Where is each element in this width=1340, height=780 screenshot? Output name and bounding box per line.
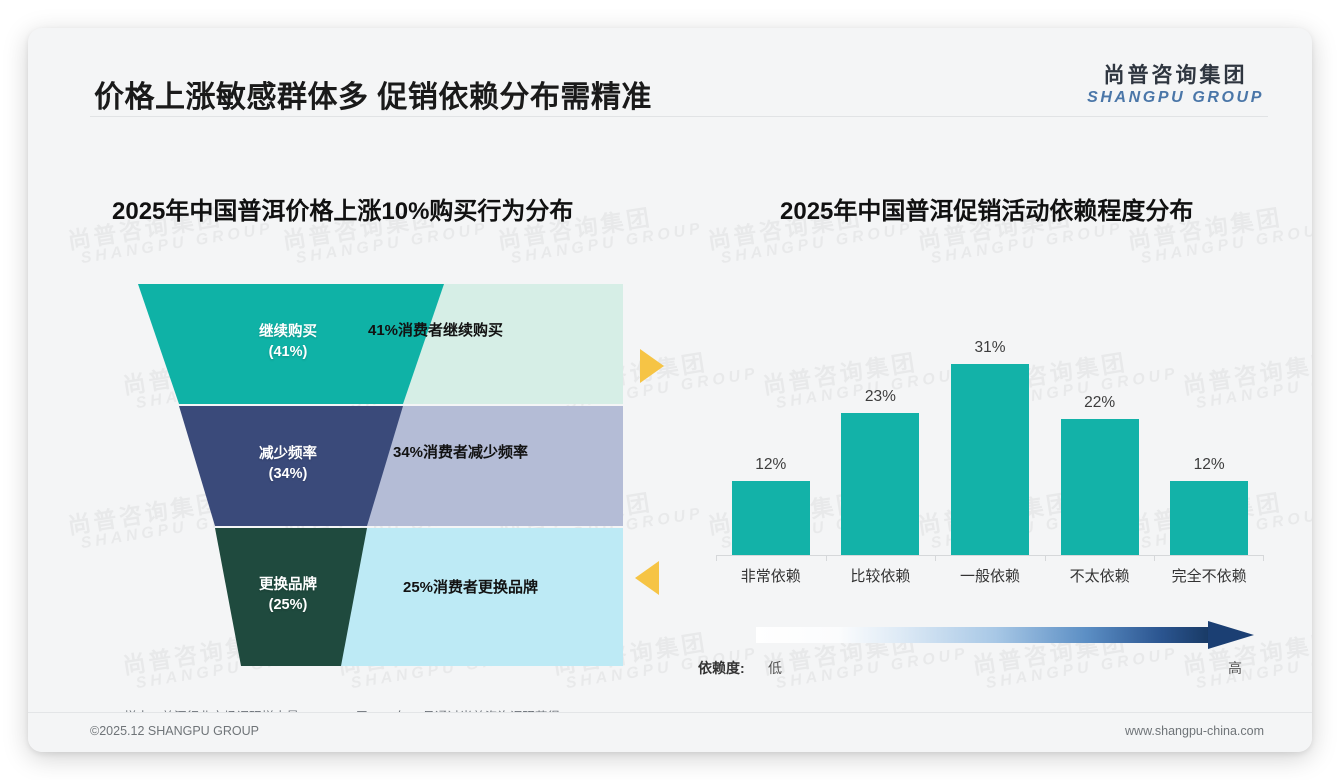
axis-tick <box>1154 555 1155 561</box>
funnel-segment-name: 减少频率 <box>259 446 317 462</box>
legend-low-label: 低 <box>768 658 782 678</box>
bar-column[interactable]: 12% <box>1166 456 1252 555</box>
header-divider <box>90 116 1268 117</box>
slide-header: 价格上涨敏感群体多 促销依赖分布需精准 尚普咨询集团 SHANGPU GROUP <box>28 28 1312 116</box>
funnel-graphic <box>123 284 643 668</box>
bar-category-label: 比较依赖 <box>830 565 930 586</box>
bar-value-label: 22% <box>1057 394 1143 412</box>
funnel-annotation-text: 25%消费者更换品牌 <box>403 576 538 597</box>
legend-high-label: 高 <box>1228 658 1242 678</box>
bar-column[interactable]: 31% <box>947 339 1033 555</box>
logo-english-text: SHANGPU GROUP <box>1087 88 1264 107</box>
funnel-segment-name: 更换品牌 <box>259 577 317 593</box>
funnel-segment-name: 继续购买 <box>259 324 317 340</box>
x-axis-line <box>716 555 1264 556</box>
copyright-text: ©2025.12 SHANGPU GROUP <box>90 724 259 738</box>
bar-rect <box>841 413 919 555</box>
bar-value-label: 31% <box>947 339 1033 357</box>
arrow-right-icon <box>640 349 664 383</box>
bar-rect <box>951 364 1029 555</box>
axis-tick <box>1045 555 1046 561</box>
funnel-chart: 继续购买(41%)41%消费者继续购买减少频率(34%)34%消费者减少频率更换… <box>123 284 643 668</box>
bar-column[interactable]: 22% <box>1057 394 1143 555</box>
funnel-segment-label: 继续购买(41%) <box>233 323 343 362</box>
bar-value-label: 23% <box>837 388 923 406</box>
bar-category-label: 不太依赖 <box>1050 565 1150 586</box>
legend-title: 依赖度: <box>698 658 745 678</box>
page-title: 价格上涨敏感群体多 促销依赖分布需精准 <box>94 72 652 116</box>
axis-tick <box>826 555 827 561</box>
bar-plot-area: 12%23%31%22%12% <box>716 293 1264 555</box>
funnel-annotation-text: 34%消费者减少频率 <box>393 441 528 462</box>
bar-rect <box>1170 481 1248 555</box>
bar-category-label: 一般依赖 <box>940 565 1040 586</box>
bar-chart: 12%23%31%22%12% 非常依赖比较依赖一般依赖不太依赖完全不依赖 <box>716 293 1264 593</box>
bar-category-label: 非常依赖 <box>721 565 821 586</box>
funnel-annotation-panel <box>328 528 623 666</box>
funnel-segment-label: 减少频率(34%) <box>233 445 343 484</box>
bar-category-label: 完全不依赖 <box>1159 565 1259 586</box>
funnel-segment-label: 更换品牌(25%) <box>233 576 343 615</box>
funnel-segment-value: (25%) <box>269 597 308 613</box>
arrow-left-icon <box>635 561 659 595</box>
bar-value-label: 12% <box>728 456 814 474</box>
right-chart-title: 2025年中国普洱促销活动依赖程度分布 <box>780 191 1193 226</box>
logo-chinese-text: 尚普咨询集团 <box>1087 64 1264 87</box>
slide-footer: ©2025.12 SHANGPU GROUP www.shangpu-china… <box>28 712 1312 752</box>
dependency-legend: 依赖度: 低 高 <box>716 620 1264 684</box>
funnel-segment-value: (34%) <box>269 466 308 482</box>
axis-tick <box>1263 555 1264 561</box>
funnel-segment-value: (41%) <box>269 344 308 360</box>
axis-tick <box>716 555 717 561</box>
left-chart-title: 2025年中国普洱价格上涨10%购买行为分布 <box>112 191 573 226</box>
bar-column[interactable]: 23% <box>837 388 923 555</box>
footer-divider <box>28 712 1312 713</box>
bar-rect <box>1061 419 1139 555</box>
bar-value-label: 12% <box>1166 456 1252 474</box>
funnel-annotation-text: 41%消费者继续购买 <box>368 319 503 340</box>
legend-gradient-arrow <box>756 620 1254 650</box>
website-link[interactable]: www.shangpu-china.com <box>1125 724 1264 738</box>
bar-column[interactable]: 12% <box>728 456 814 555</box>
company-logo: 尚普咨询集团 SHANGPU GROUP <box>1087 64 1264 107</box>
axis-tick <box>935 555 936 561</box>
gradient-arrow-icon <box>756 620 1254 650</box>
slide-card: 尚普咨询集团SHANGPU GROUP尚普咨询集团SHANGPU GROUP尚普… <box>28 28 1312 752</box>
bar-rect <box>732 481 810 555</box>
